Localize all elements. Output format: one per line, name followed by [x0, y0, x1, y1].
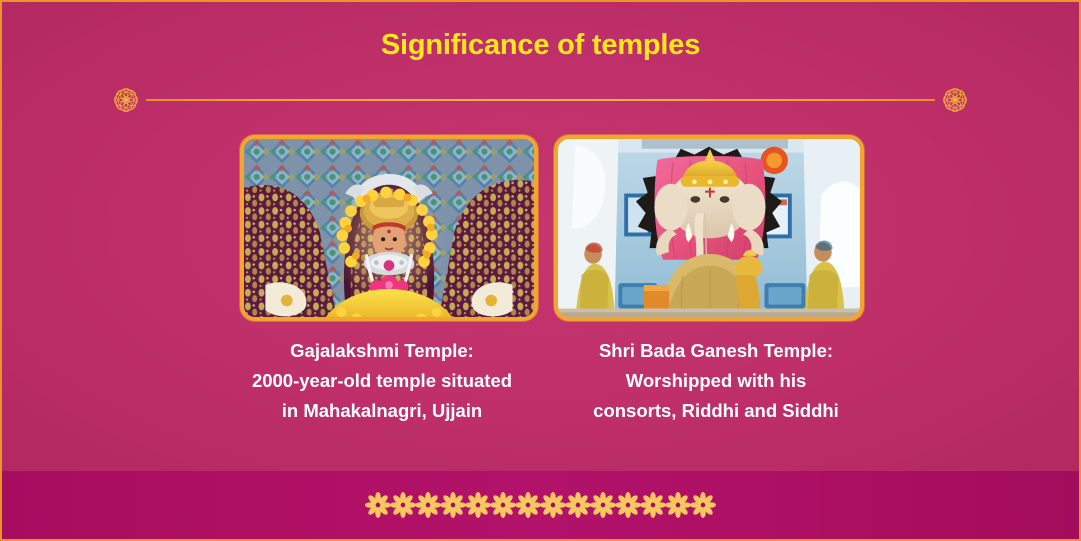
slide-canvas: Significance of temples — [0, 0, 1081, 541]
caption-line: Shri Bada Ganesh Temple: — [556, 336, 876, 366]
decorative-divider — [110, 84, 971, 116]
eight-petal-flower-icon — [490, 492, 516, 518]
flower-border-row — [366, 492, 716, 518]
eight-petal-flower-icon — [565, 492, 591, 518]
caption-bada-ganesh: Shri Bada Ganesh Temple: Worshipped with… — [556, 336, 876, 426]
eight-petal-flower-icon — [515, 492, 541, 518]
temple-image-row — [240, 135, 864, 321]
caption-line: consorts, Riddhi and Siddhi — [556, 396, 876, 426]
gajalakshmi-deity-photo — [244, 139, 534, 320]
eight-petal-flower-icon — [365, 492, 391, 518]
page-title: Significance of temples — [2, 29, 1079, 62]
rosette-mandala-icon — [110, 84, 142, 116]
caption-line: 2000-year-old temple situated — [216, 366, 548, 396]
eight-petal-flower-icon — [640, 492, 666, 518]
eight-petal-flower-icon — [465, 492, 491, 518]
caption-gajalakshmi: Gajalakshmi Temple: 2000-year-old temple… — [216, 336, 548, 426]
temple-image-card-bada-ganesh[interactable] — [554, 135, 864, 321]
eight-petal-flower-icon — [690, 492, 716, 518]
divider-line — [146, 99, 935, 101]
eight-petal-flower-icon — [390, 492, 416, 518]
eight-petal-flower-icon — [440, 492, 466, 518]
eight-petal-flower-icon — [590, 492, 616, 518]
caption-line: Gajalakshmi Temple: — [216, 336, 548, 366]
eight-petal-flower-icon — [615, 492, 641, 518]
eight-petal-flower-icon — [540, 492, 566, 518]
eight-petal-flower-icon — [665, 492, 691, 518]
bada-ganesh-idol-photo — [558, 139, 860, 320]
caption-line: Worshipped with his — [556, 366, 876, 396]
temple-image-card-gajalakshmi[interactable] — [240, 135, 538, 321]
rosette-mandala-icon — [939, 84, 971, 116]
caption-line: in Mahakalnagri, Ujjain — [216, 396, 548, 426]
bottom-decorative-band — [2, 471, 1079, 539]
caption-row: Gajalakshmi Temple: 2000-year-old temple… — [216, 336, 876, 426]
eight-petal-flower-icon — [415, 492, 441, 518]
